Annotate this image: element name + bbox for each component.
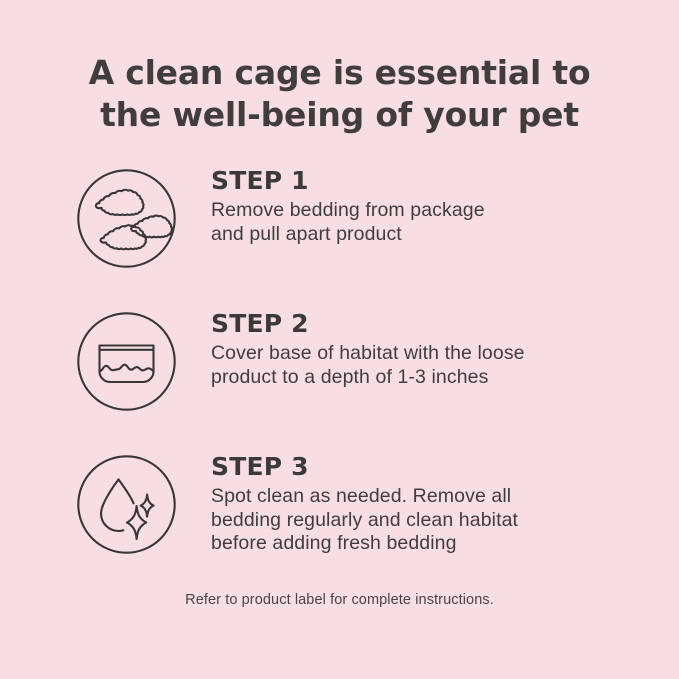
bedding-fluff-icon <box>77 169 176 268</box>
step-text-1: STEP 1 Remove bedding from package and p… <box>211 166 651 246</box>
step-item-3: STEP 3 Spot clean as needed. Remove all … <box>0 452 679 595</box>
page-title-line-2: the well-being of your pet <box>0 94 679 136</box>
habitat-tank-icon <box>77 312 176 411</box>
step-description-2: Cover base of habitat with the loose pro… <box>211 342 651 389</box>
instruction-poster: A clean cage is essential to the well-be… <box>0 0 679 679</box>
step-text-3: STEP 3 Spot clean as needed. Remove all … <box>211 452 651 556</box>
step-description-3: Spot clean as needed. Remove all bedding… <box>211 485 651 556</box>
step-title-1: STEP 1 <box>211 166 651 196</box>
step-description-1: Remove bedding from package and pull apa… <box>211 199 651 246</box>
step-title-3: STEP 3 <box>211 452 651 482</box>
step-text-2: STEP 2 Cover base of habitat with the lo… <box>211 309 651 389</box>
step-item-1: STEP 1 Remove bedding from package and p… <box>0 166 679 309</box>
footer-note: Refer to product label for complete inst… <box>0 592 679 608</box>
page-title-line-1: A clean cage is essential to <box>0 52 679 94</box>
droplet-sparkle-icon <box>77 455 176 554</box>
steps-list: STEP 1 Remove bedding from package and p… <box>0 166 679 595</box>
step-item-2: STEP 2 Cover base of habitat with the lo… <box>0 309 679 452</box>
step-title-2: STEP 2 <box>211 309 651 339</box>
page-title: A clean cage is essential to the well-be… <box>0 52 679 136</box>
